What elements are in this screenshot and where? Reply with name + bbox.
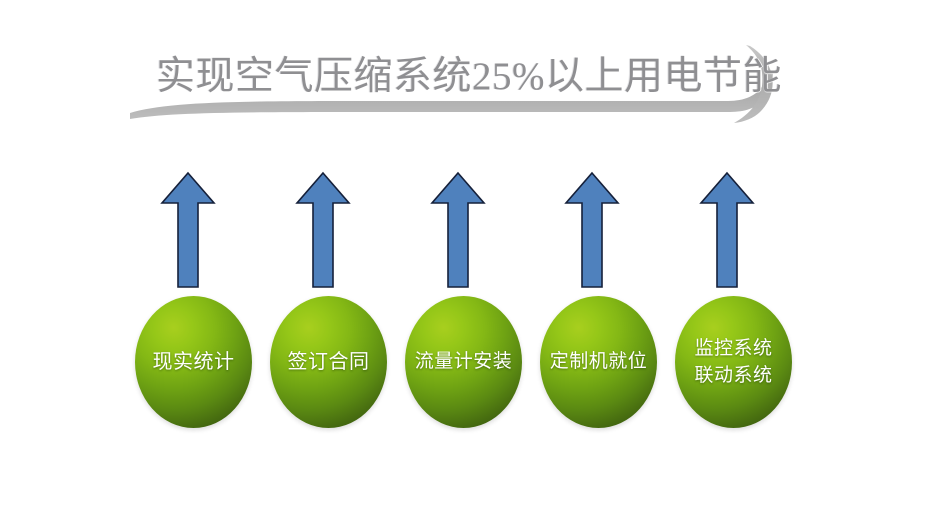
step-label-2: 签订合同: [284, 349, 374, 375]
step-label-3: 流量计安装: [411, 349, 517, 375]
up-arrow-2: [295, 171, 351, 289]
up-arrow-1: [160, 171, 216, 289]
up-arrow-4: [564, 171, 620, 289]
step-circle-1[interactable]: 现实统计: [135, 296, 252, 428]
step-label-1: 现实统计: [149, 349, 239, 375]
slide-canvas: 实现空气压缩系统25%以上用电节能 现实统计 签订合同 流量计安装 定制机就位 …: [0, 0, 945, 529]
step-label-5: 监控系统 联动系统: [690, 335, 776, 389]
step-circle-4[interactable]: 定制机就位: [540, 296, 657, 428]
up-arrow-5: [699, 171, 755, 289]
step-circle-5[interactable]: 监控系统 联动系统: [675, 296, 792, 428]
page-title: 实现空气压缩系统25%以上用电节能: [156, 46, 756, 108]
step-circle-3[interactable]: 流量计安装: [405, 296, 522, 428]
title-banner: 实现空气压缩系统25%以上用电节能: [128, 40, 778, 138]
up-arrow-3: [430, 171, 486, 289]
step-circle-2[interactable]: 签订合同: [270, 296, 387, 428]
step-label-4: 定制机就位: [546, 349, 652, 375]
